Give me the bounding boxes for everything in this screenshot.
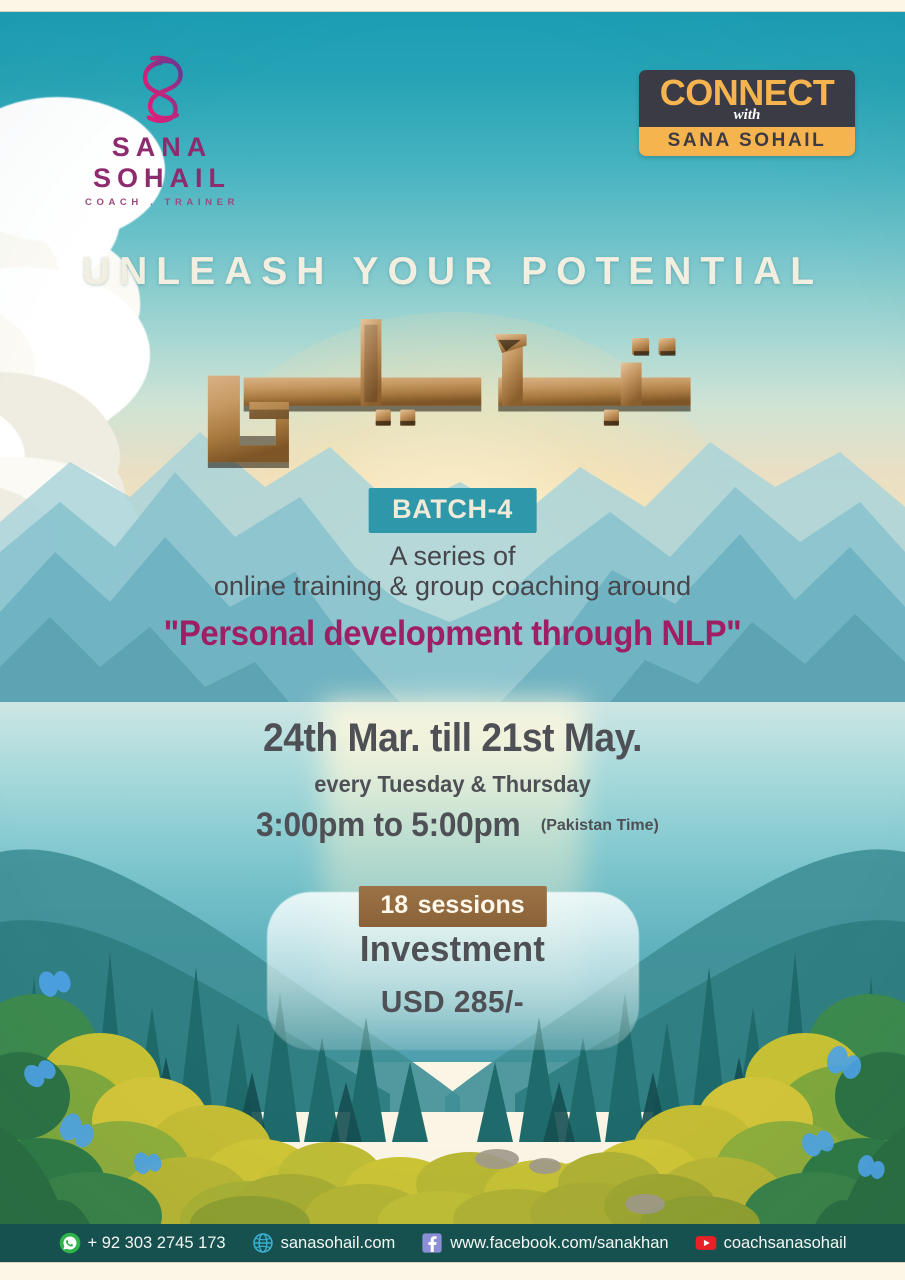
sessions-count: 18	[380, 891, 408, 919]
connect-badge-bottom: SANA SOHAIL	[639, 127, 855, 156]
investment-block: Investment USD 285/-	[0, 928, 905, 1020]
connect-name-label: SANA SOHAIL	[639, 130, 855, 152]
connect-badge-top: CONNECT with	[639, 70, 855, 127]
urdu-kufic-calligraphy-icon	[0, 304, 905, 474]
contact-facebook[interactable]: www.facebook.com/sanakhan	[408, 1232, 681, 1254]
investment-price: USD 285/-	[18, 984, 887, 1020]
contact-whatsapp[interactable]: + 92 303 2745 173	[46, 1232, 239, 1254]
sessions-label: sessions	[418, 891, 525, 919]
contact-website[interactable]: sanasohail.com	[239, 1232, 409, 1254]
poster-frame-top	[0, 0, 905, 12]
brand-name: SANA SOHAIL	[62, 132, 262, 194]
program-quote: "Personal development through NLP"	[27, 614, 878, 654]
series-description: A series of online training & group coac…	[0, 542, 905, 601]
page-title: UNLEASH YOUR POTENTIAL	[0, 250, 905, 294]
contact-youtube-text: coachsanasohail	[724, 1234, 847, 1253]
youtube-icon	[695, 1232, 717, 1254]
schedule-time-line: 3:00pm to 5:00pm (Pakistan Time)	[0, 806, 905, 845]
batch-label: BATCH-4	[392, 494, 513, 524]
schedule-date-range: 24th Mar. till 21st May.	[32, 716, 874, 761]
contact-whatsapp-text: + 92 303 2745 173	[88, 1234, 226, 1253]
poster-frame-bottom	[0, 1262, 905, 1280]
connect-label: CONNECT	[639, 76, 855, 111]
whatsapp-icon	[59, 1232, 81, 1254]
investment-title: Investment	[18, 928, 887, 970]
series-line-1: A series of	[0, 542, 905, 570]
connect-with-sana-sohail-badge[interactable]: CONNECT with SANA SOHAIL	[639, 70, 855, 156]
series-line-2: online training & group coaching around	[0, 572, 905, 600]
schedule-timezone: (Pakistan Time)	[541, 817, 659, 835]
contact-website-text: sanasohail.com	[281, 1234, 396, 1253]
poster-content: SANA SOHAIL COACH . TRAINER CONNECT with…	[0, 12, 905, 1262]
globe-icon	[252, 1232, 274, 1254]
poster-canvas: SANA SOHAIL COACH . TRAINER CONNECT with…	[0, 0, 905, 1280]
contact-youtube[interactable]: coachsanasohail	[682, 1232, 860, 1254]
facebook-icon	[421, 1232, 443, 1254]
sana-sohail-s-monogram-icon	[62, 46, 262, 130]
brand-logo[interactable]: SANA SOHAIL COACH . TRAINER	[62, 46, 262, 208]
contact-facebook-text: www.facebook.com/sanakhan	[450, 1234, 668, 1253]
brand-subtitle: COACH . TRAINER	[62, 197, 262, 208]
schedule-time: 3:00pm to 5:00pm	[256, 806, 520, 845]
schedule-days: every Tuesday & Thursday	[23, 771, 883, 798]
schedule-block: 24th Mar. till 21st May. every Tuesday &…	[0, 716, 905, 845]
sessions-count-badge: 18 sessions	[358, 886, 546, 927]
contact-footer-bar: + 92 303 2745 173 sanasohail.com www.fac…	[0, 1224, 905, 1262]
batch-badge: BATCH-4	[368, 488, 537, 533]
